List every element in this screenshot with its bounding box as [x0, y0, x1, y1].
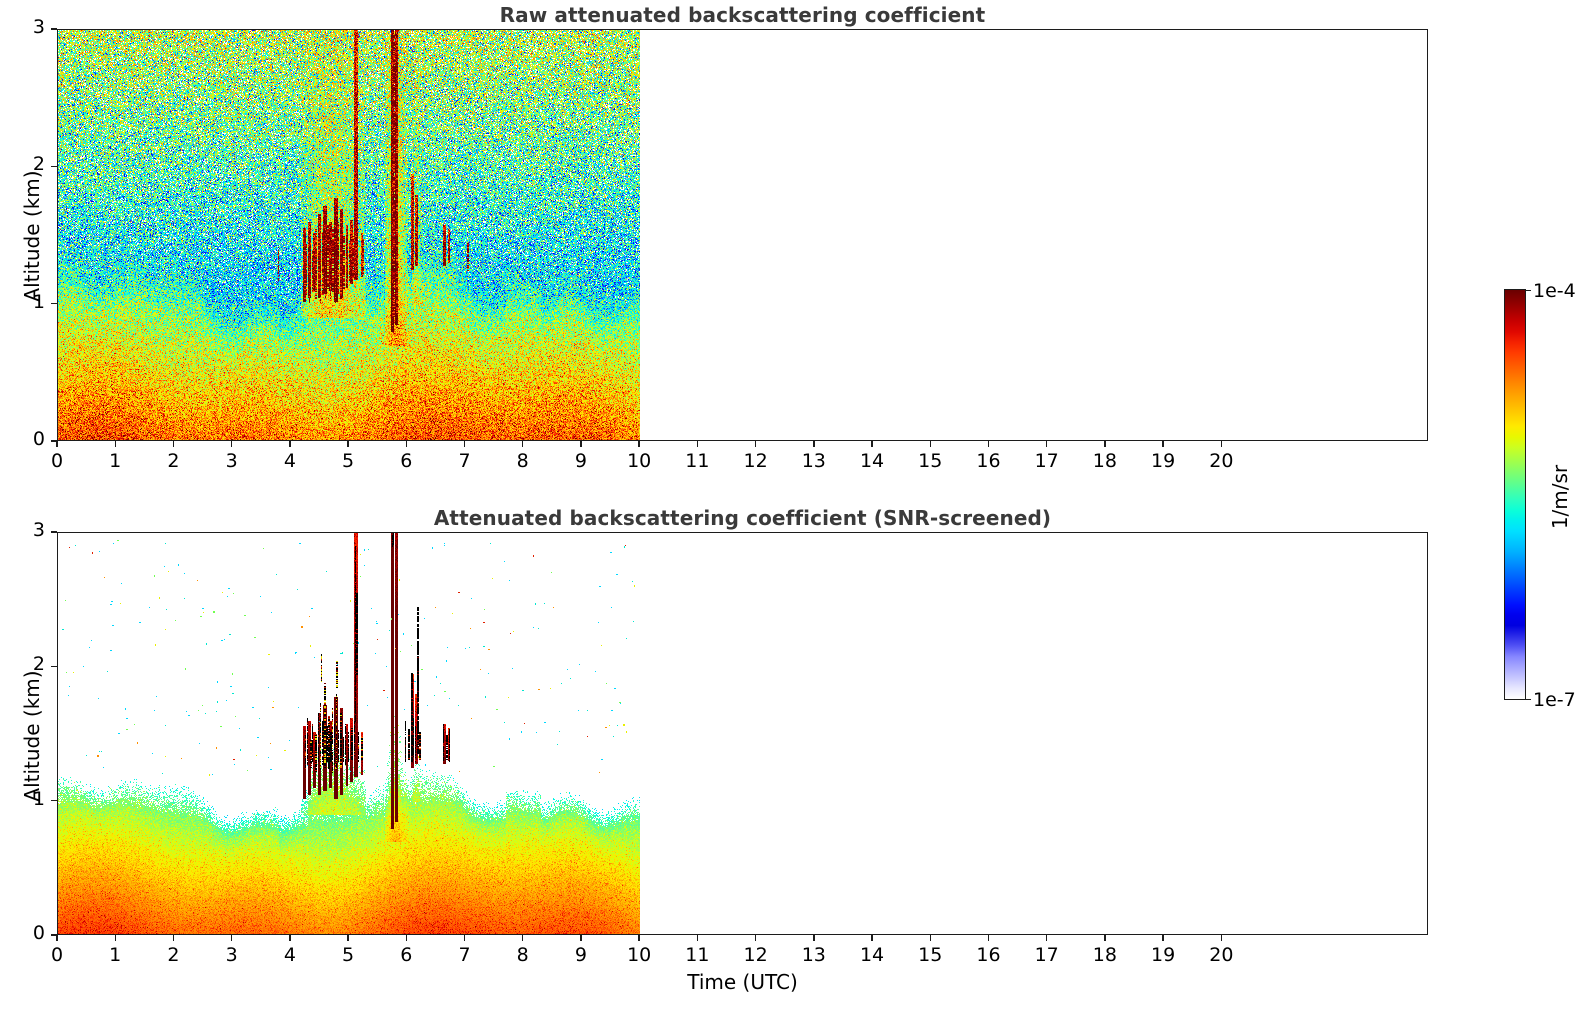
y-tick	[51, 166, 57, 167]
x-tick	[522, 441, 523, 447]
x-tick-label: 15	[900, 944, 960, 966]
x-tick	[1104, 935, 1105, 941]
y-tick	[51, 28, 57, 29]
colorbar-max-label: 1e-4	[1533, 280, 1576, 302]
colorbar-tick-max	[1526, 290, 1531, 291]
x-tick-label: 8	[493, 450, 553, 472]
y-tick	[51, 666, 57, 667]
raw-y-axis-label: Altitude (km)	[20, 156, 44, 316]
x-tick	[231, 935, 232, 941]
x-tick-label: 7	[435, 944, 495, 966]
x-tick	[1104, 441, 1105, 447]
x-tick	[988, 935, 989, 941]
x-tick-label: 2	[143, 944, 203, 966]
axes-raw-backscatter[interactable]	[57, 29, 1428, 441]
x-tick-label: 6	[376, 944, 436, 966]
x-tick	[697, 935, 698, 941]
x-tick	[871, 935, 872, 941]
x-tick	[406, 441, 407, 447]
x-tick-label: 9	[551, 450, 611, 472]
colorbar-min-label: 1e-7	[1533, 689, 1576, 711]
colorbar[interactable]	[1504, 289, 1526, 700]
y-tick	[51, 800, 57, 801]
x-tick	[697, 441, 698, 447]
x-tick-label: 14	[842, 450, 902, 472]
x-tick-label: 16	[958, 450, 1018, 472]
x-tick	[289, 935, 290, 941]
x-tick	[1221, 935, 1222, 941]
x-tick	[115, 935, 116, 941]
x-tick-label: 4	[260, 944, 320, 966]
x-tick	[930, 441, 931, 447]
x-tick-label: 17	[1017, 450, 1077, 472]
x-tick-label: 6	[376, 450, 436, 472]
panel-title-raw: Raw attenuated backscattering coefficien…	[57, 3, 1428, 27]
x-tick-label: 12	[726, 944, 786, 966]
x-tick	[173, 935, 174, 941]
x-tick-label: 1	[85, 944, 145, 966]
x-tick	[813, 441, 814, 447]
x-tick	[813, 935, 814, 941]
x-tick	[871, 441, 872, 447]
raw-heatmap-region	[58, 30, 1222, 440]
x-tick-label: 5	[318, 450, 378, 472]
y-tick	[51, 303, 57, 304]
x-tick-label: 11	[667, 450, 727, 472]
colorbar-gradient	[1505, 290, 1525, 699]
x-tick-label: 18	[1075, 944, 1135, 966]
x-tick-label: 5	[318, 944, 378, 966]
x-tick-label: 15	[900, 450, 960, 472]
x-tick-label: 10	[609, 944, 669, 966]
x-tick-label: 10	[609, 450, 669, 472]
x-tick	[988, 441, 989, 447]
y-tick-label: 0	[5, 428, 45, 450]
x-tick	[347, 441, 348, 447]
y-tick-label: 0	[5, 922, 45, 944]
x-tick-label: 13	[784, 944, 844, 966]
x-tick-label: 14	[842, 944, 902, 966]
x-tick	[464, 935, 465, 941]
x-tick-label: 19	[1133, 450, 1193, 472]
x-tick	[406, 935, 407, 941]
x-tick-label: 11	[667, 944, 727, 966]
screened-y-axis-label: Altitude (km)	[20, 656, 44, 816]
x-tick	[580, 935, 581, 941]
screened-backscatter-heatmap	[58, 533, 640, 934]
x-tick-label: 1	[85, 450, 145, 472]
x-tick-label: 8	[493, 944, 553, 966]
x-tick-label: 3	[202, 450, 262, 472]
x-tick-label: 13	[784, 450, 844, 472]
x-tick-label: 9	[551, 944, 611, 966]
x-tick	[638, 935, 639, 941]
x-tick-label: 20	[1191, 450, 1251, 472]
x-tick-label: 3	[202, 944, 262, 966]
x-tick	[1162, 441, 1163, 447]
x-tick	[173, 441, 174, 447]
screened-heatmap-region	[58, 533, 1222, 934]
x-tick	[56, 935, 57, 941]
x-tick	[638, 441, 639, 447]
x-tick-label: 12	[726, 450, 786, 472]
colorbar-title: 1/m/sr	[1548, 437, 1572, 557]
x-tick-label: 20	[1191, 944, 1251, 966]
x-tick	[115, 441, 116, 447]
x-tick	[231, 441, 232, 447]
screened-x-axis-label: Time (UTC)	[57, 970, 1428, 994]
x-tick	[930, 935, 931, 941]
x-tick	[347, 935, 348, 941]
x-tick	[56, 441, 57, 447]
x-tick-label: 18	[1075, 450, 1135, 472]
colorbar-tick-min	[1526, 699, 1531, 700]
x-tick	[522, 935, 523, 941]
x-tick	[580, 441, 581, 447]
x-tick-label: 2	[143, 450, 203, 472]
x-tick-label: 0	[27, 944, 87, 966]
x-tick	[755, 935, 756, 941]
x-tick-label: 16	[958, 944, 1018, 966]
x-tick-label: 19	[1133, 944, 1193, 966]
axes-screened-backscatter[interactable]	[57, 532, 1428, 935]
figure-canvas: Raw attenuated backscattering coefficien…	[0, 0, 1595, 1020]
raw-backscatter-heatmap	[58, 30, 640, 440]
x-tick	[1046, 935, 1047, 941]
x-tick	[1221, 441, 1222, 447]
x-tick-label: 7	[435, 450, 495, 472]
y-tick	[51, 531, 57, 532]
panel-title-screened: Attenuated backscattering coefficient (S…	[57, 506, 1428, 530]
x-tick-label: 4	[260, 450, 320, 472]
x-tick-label: 17	[1017, 944, 1077, 966]
y-tick-label: 3	[5, 16, 45, 38]
x-tick	[755, 441, 756, 447]
x-tick	[289, 441, 290, 447]
x-tick	[464, 441, 465, 447]
x-tick	[1162, 935, 1163, 941]
x-tick-label: 0	[27, 450, 87, 472]
y-tick-label: 3	[5, 519, 45, 541]
x-tick	[1046, 441, 1047, 447]
